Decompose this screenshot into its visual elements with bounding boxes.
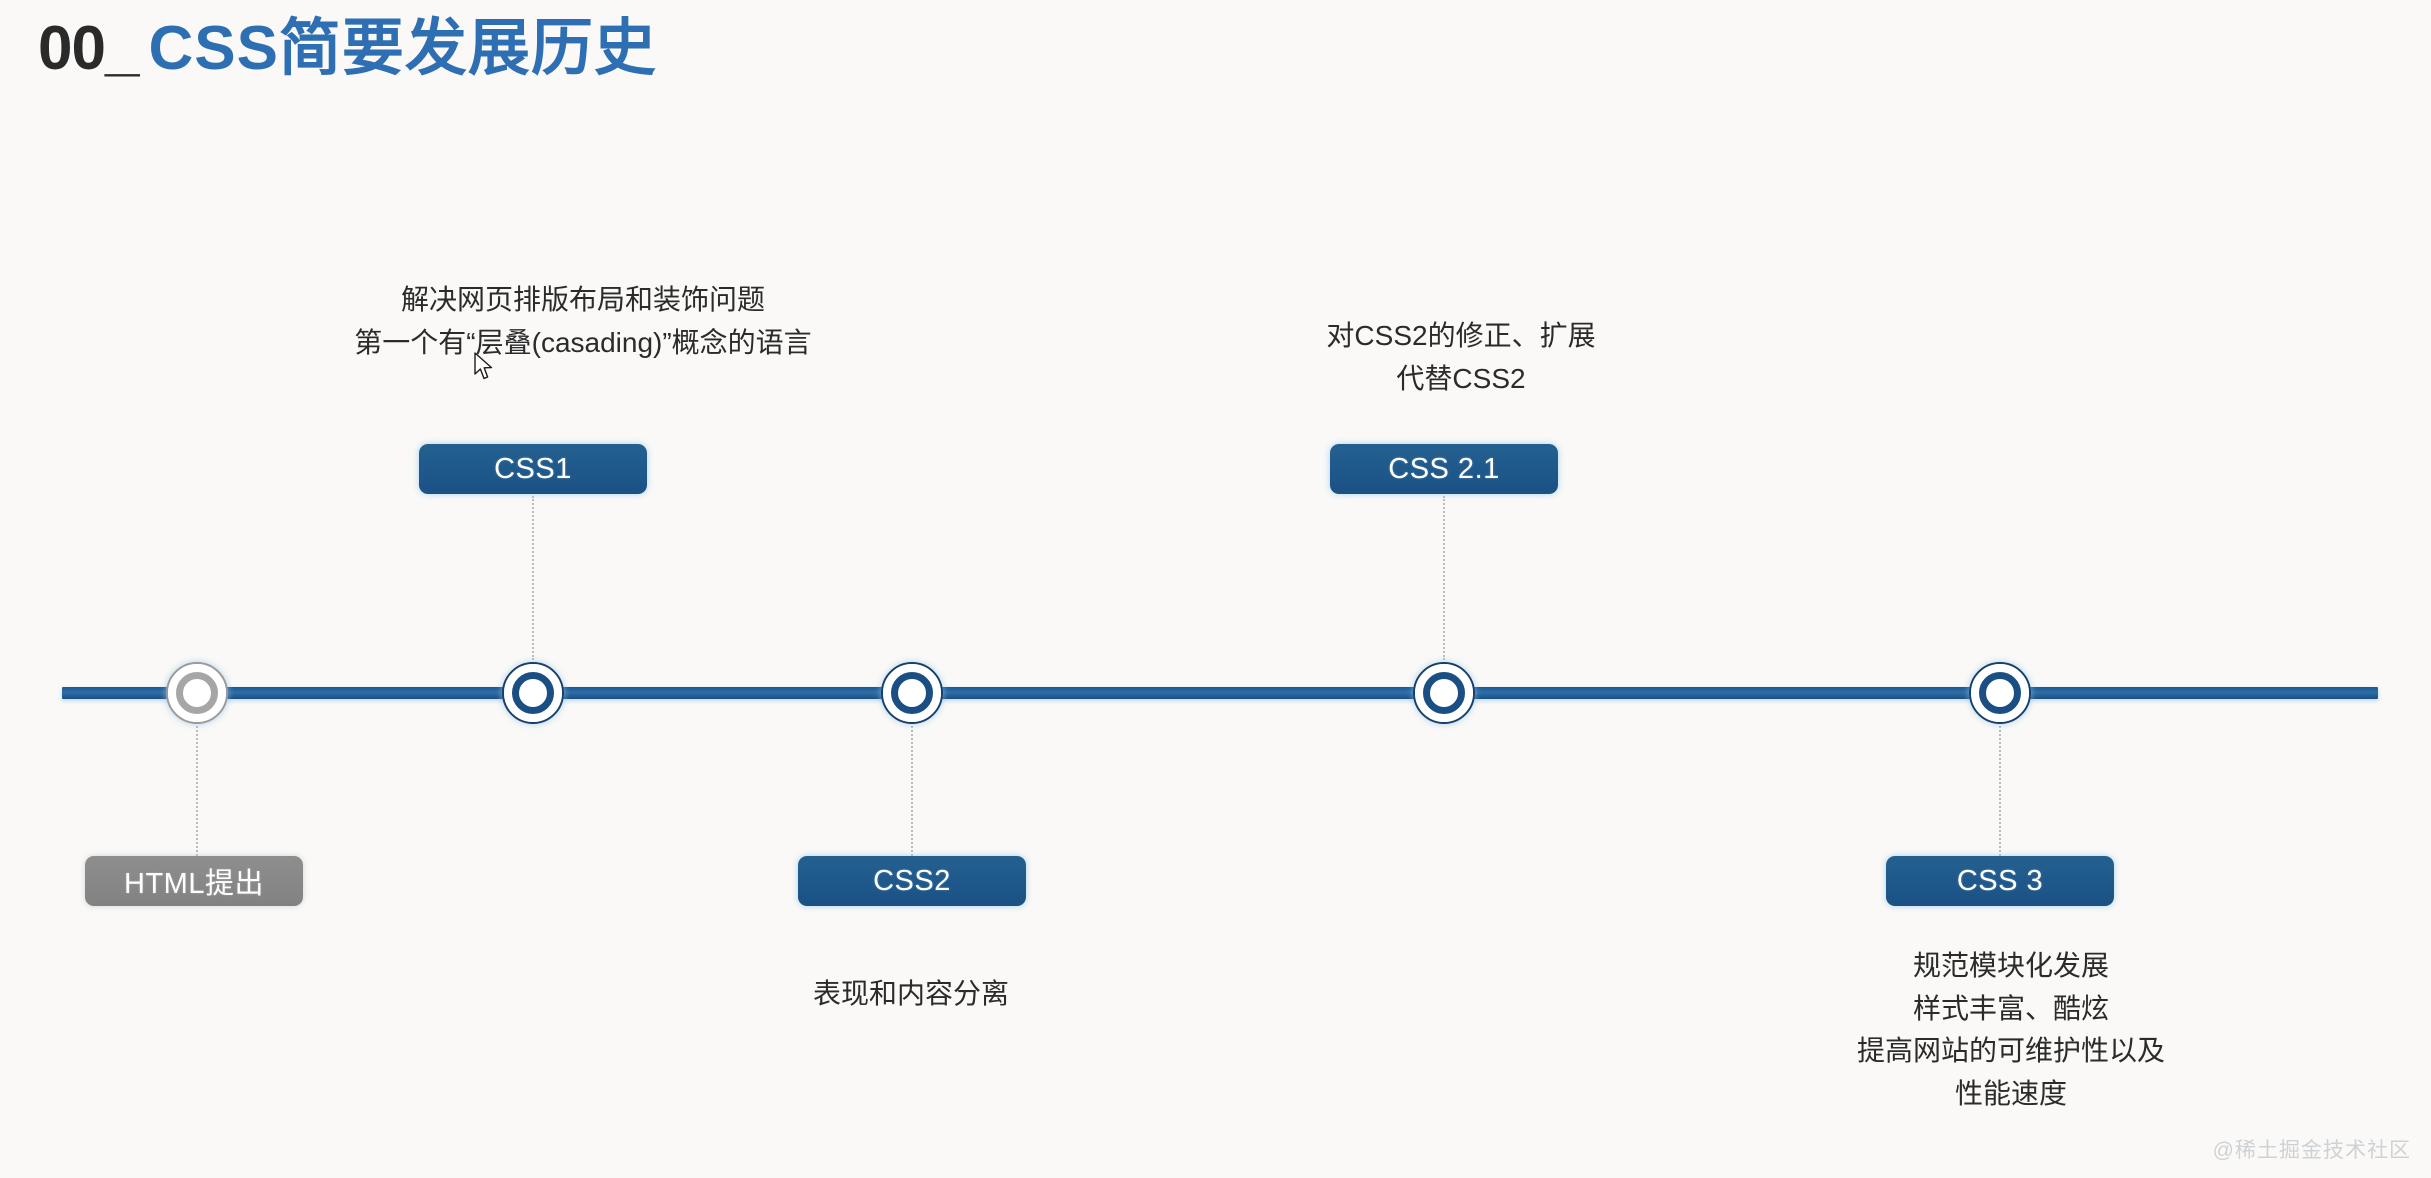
connector-html: [196, 726, 198, 872]
page-title: 00_CSS简要发展历史: [38, 18, 657, 80]
node-ring-icon: [883, 664, 941, 722]
timeline-node-css3[interactable]: [1969, 662, 2031, 724]
description-css2: 表现和内容分离: [813, 973, 1009, 1016]
timeline-node-html[interactable]: [166, 662, 228, 724]
timeline-node-css1[interactable]: [502, 662, 564, 724]
page-title-number: 00_: [38, 14, 138, 83]
description-css1: 解决网页排版布局和装饰问题 第一个有“层叠(casading)”概念的语言: [354, 279, 811, 364]
description-css1-line-2: 第一个有“层叠(casading)”概念的语言: [354, 322, 811, 365]
node-ring-icon: [1971, 664, 2029, 722]
connector-css2: [911, 726, 913, 856]
description-css21-line-1: 对CSS2的修正、扩展: [1326, 315, 1595, 358]
connector-css1: [532, 496, 534, 660]
connector-css21: [1443, 496, 1445, 660]
timeline-node-css2[interactable]: [881, 662, 943, 724]
node-ring-icon: [168, 664, 226, 722]
page-title-text: CSS简要发展历史: [148, 14, 656, 83]
chip-css3[interactable]: CSS 3: [1886, 856, 2114, 906]
node-ring-icon: [1415, 664, 1473, 722]
description-css2-line-1: 表现和内容分离: [813, 973, 1009, 1016]
chip-css21[interactable]: CSS 2.1: [1330, 444, 1558, 494]
timeline-node-css21[interactable]: [1413, 662, 1475, 724]
description-css3-line-1: 规范模块化发展: [1857, 945, 2165, 988]
chip-css2[interactable]: CSS2: [798, 856, 1026, 906]
node-ring-icon: [504, 664, 562, 722]
description-css3-line-2: 样式丰富、酷炫: [1857, 988, 2165, 1031]
description-css3: 规范模块化发展 样式丰富、酷炫 提高网站的可维护性以及 性能速度: [1857, 945, 2165, 1115]
connector-css3: [1999, 726, 2001, 856]
description-css3-line-4: 性能速度: [1857, 1073, 2165, 1116]
description-css21-line-2: 代替CSS2: [1326, 358, 1595, 401]
description-css21: 对CSS2的修正、扩展 代替CSS2: [1326, 315, 1595, 400]
chip-html[interactable]: HTML提出: [85, 856, 303, 906]
chip-css1[interactable]: CSS1: [419, 444, 647, 494]
description-css3-line-3: 提高网站的可维护性以及: [1857, 1030, 2165, 1073]
description-css1-line-1: 解决网页排版布局和装饰问题: [354, 279, 811, 322]
watermark: @稀土掘金技术社区: [2213, 1134, 2411, 1164]
